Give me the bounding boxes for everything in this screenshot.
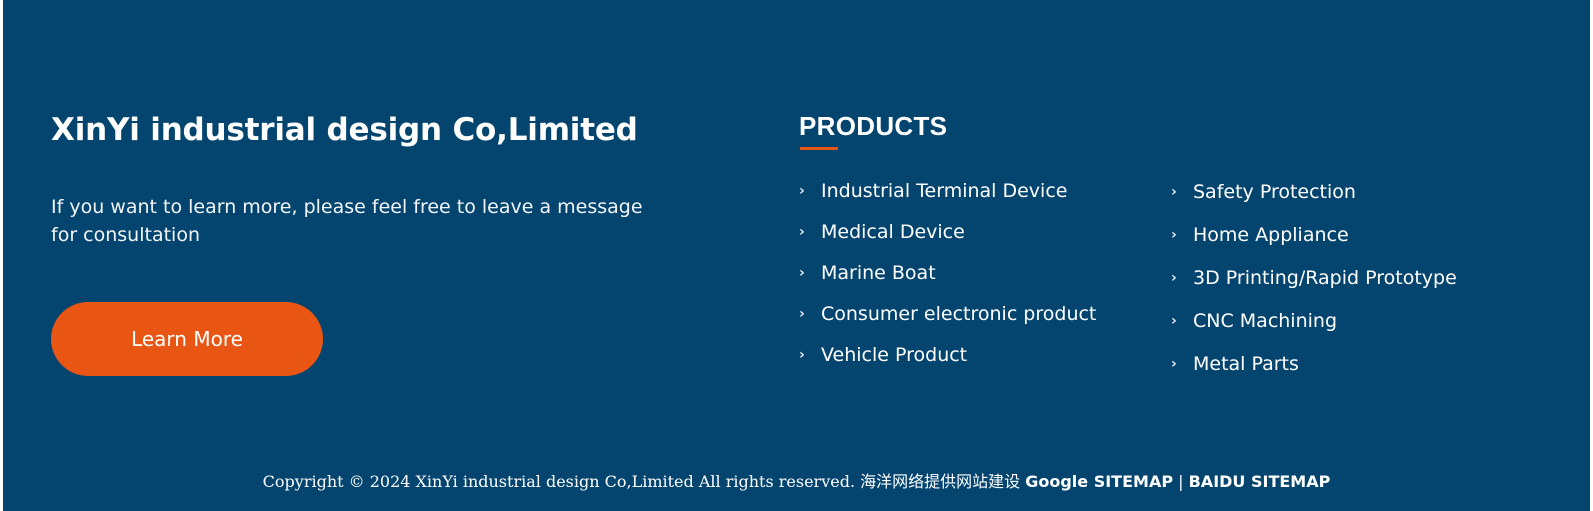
site-footer: XinYi industrial design Co,Limited If yo… (3, 0, 1590, 511)
product-link-label: Marine Boat (821, 262, 936, 284)
product-column-2: › Safety Protection › Home Appliance › 3… (1171, 170, 1561, 385)
product-link-label: Industrial Terminal Device (821, 180, 1067, 202)
chevron-right-icon: › (799, 348, 821, 362)
chevron-right-icon: › (1171, 271, 1193, 285)
product-link-metal-parts[interactable]: › Metal Parts (1171, 342, 1561, 385)
company-tagline: If you want to learn more, please feel f… (51, 193, 651, 249)
chevron-right-icon: › (1171, 314, 1193, 328)
company-title: XinYi industrial design Co,Limited (51, 108, 711, 152)
baidu-sitemap-link[interactable]: BAIDU SITEMAP (1189, 472, 1331, 491)
copyright-bar: Copyright © 2024 XinYi industrial design… (3, 470, 1590, 494)
product-link-marine-boat[interactable]: › Marine Boat (799, 252, 1169, 293)
product-link-safety-protection[interactable]: › Safety Protection (1171, 170, 1561, 213)
product-link-medical-device[interactable]: › Medical Device (799, 211, 1169, 252)
product-link-label: Metal Parts (1193, 353, 1299, 375)
products-block: PRODUCTS › Industrial Terminal Device › … (799, 110, 1559, 142)
product-link-label: Home Appliance (1193, 224, 1349, 246)
products-heading: PRODUCTS (799, 110, 1559, 142)
product-link-label: Vehicle Product (821, 344, 967, 366)
google-sitemap-link[interactable]: Google SITEMAP (1025, 472, 1173, 491)
chevron-right-icon: › (1171, 357, 1193, 371)
chevron-right-icon: › (799, 266, 821, 280)
product-link-3d-printing-rapid-prototype[interactable]: › 3D Printing/Rapid Prototype (1171, 256, 1561, 299)
product-link-label: Medical Device (821, 221, 965, 243)
product-link-label: CNC Machining (1193, 310, 1337, 332)
product-link-label: Consumer electronic product (821, 303, 1096, 325)
chevron-right-icon: › (1171, 228, 1193, 242)
copyright-text: Copyright © 2024 XinYi industrial design… (263, 472, 1026, 491)
product-link-vehicle-product[interactable]: › Vehicle Product (799, 334, 1169, 375)
product-link-home-appliance[interactable]: › Home Appliance (1171, 213, 1561, 256)
brand-block: XinYi industrial design Co,Limited If yo… (51, 108, 711, 152)
learn-more-button[interactable]: Learn More (51, 302, 323, 376)
products-heading-underline (800, 147, 838, 150)
product-link-consumer-electronic-product[interactable]: › Consumer electronic product (799, 293, 1169, 334)
chevron-right-icon: › (799, 225, 821, 239)
product-column-1: › Industrial Terminal Device › Medical D… (799, 170, 1169, 375)
chevron-right-icon: › (1171, 185, 1193, 199)
chevron-right-icon: › (799, 184, 821, 198)
product-link-cnc-machining[interactable]: › CNC Machining (1171, 299, 1561, 342)
product-link-industrial-terminal-device[interactable]: › Industrial Terminal Device (799, 170, 1169, 211)
product-link-label: Safety Protection (1193, 181, 1356, 203)
sitemap-separator: | (1173, 472, 1189, 491)
product-link-label: 3D Printing/Rapid Prototype (1193, 267, 1457, 289)
chevron-right-icon: › (799, 307, 821, 321)
